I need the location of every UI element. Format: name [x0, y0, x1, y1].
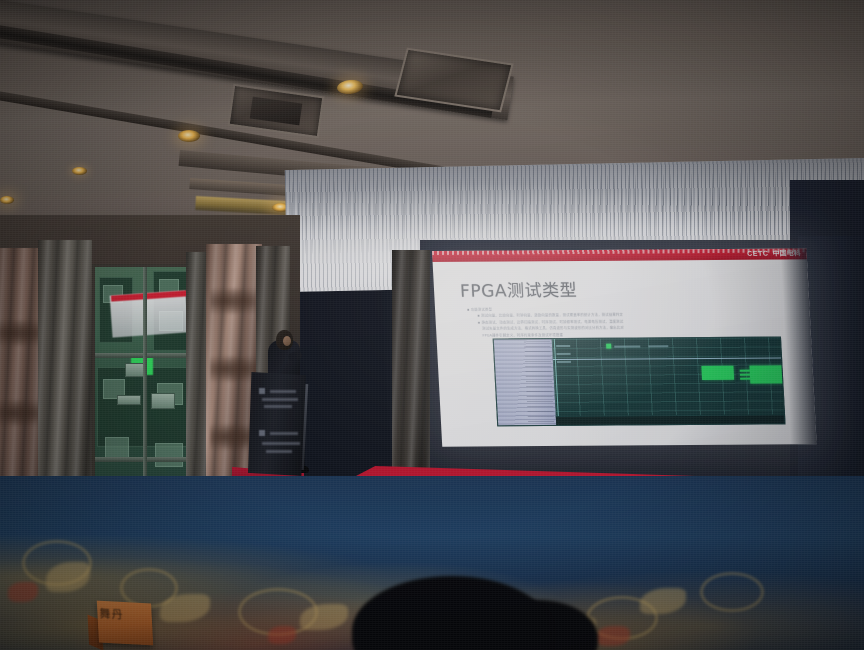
- waveform-signal-block: [740, 370, 750, 372]
- carpet-pattern: [268, 626, 296, 644]
- building-window: [105, 437, 129, 459]
- waveform-signal-block: [749, 365, 785, 384]
- ceiling-downlight: [0, 196, 14, 204]
- vent-inner: [250, 97, 302, 125]
- curtain-embroidery: [0, 398, 42, 428]
- ceiling-air-vent: [228, 84, 325, 138]
- floor-standing-sign: 舞丹: [87, 594, 164, 650]
- podium-text-line: [266, 450, 292, 453]
- curtain-embroidery: [0, 318, 42, 348]
- curtain-folds: [392, 250, 430, 490]
- curtain-embroidery: [210, 354, 258, 384]
- waveform-signal-panel: [494, 339, 557, 425]
- curtain-panel: [392, 250, 430, 490]
- waveform-row-marker: [614, 345, 640, 347]
- podium-logo: [259, 430, 265, 436]
- waveform-status-strip: [556, 414, 785, 425]
- carpet-pattern: [700, 572, 764, 612]
- waveform-row-marker: [648, 345, 668, 347]
- podium-text-line: [264, 405, 292, 408]
- slide-header-bar: CETC 中国电科: [432, 248, 807, 262]
- projection-screen: CETC 中国电科 FPGA测试类型 功能测试类型 测试向量、比较向量、时钟向量…: [432, 248, 817, 446]
- waveform-row-marker: [556, 345, 570, 347]
- carpet-pattern: [596, 626, 630, 646]
- carpet-pattern: [46, 562, 90, 592]
- podium-text-line: [270, 390, 296, 393]
- presenter-face: [283, 336, 291, 346]
- window: [92, 264, 194, 496]
- podium-text-line: [270, 432, 298, 435]
- carpet-pattern: [8, 582, 38, 602]
- cetc-logo-mark: CETC: [747, 251, 769, 258]
- waveform-viewer-image: [493, 336, 786, 426]
- sign-text: 舞丹: [99, 608, 124, 620]
- ceiling-downlight: [178, 130, 200, 142]
- waveform-signal-block: [740, 378, 750, 380]
- ceiling-downlight: [72, 167, 87, 175]
- building-window: [155, 443, 183, 467]
- air-conditioner-unit: [151, 393, 175, 409]
- waveform-row-marker: [557, 361, 571, 363]
- waveform-signal-block: [606, 344, 611, 349]
- slide-bullet-list: 功能测试类型 测试向量、比较向量、时钟向量、激励向量的数量，测试覆盖率的统计方法…: [467, 304, 793, 339]
- podium-text-line: [262, 398, 298, 401]
- waveform-canvas: [552, 337, 785, 424]
- air-conditioner-unit: [125, 363, 145, 377]
- slide-surface: CETC 中国电科 FPGA测试类型 功能测试类型 测试向量、比较向量、时钟向量…: [432, 248, 817, 446]
- waveform-row-marker: [557, 353, 571, 355]
- waveform-signal-block: [701, 366, 734, 380]
- podium-text-line: [262, 442, 300, 445]
- podium-logo: [259, 388, 265, 394]
- slide-title: FPGA测试类型: [459, 276, 577, 302]
- podium: [248, 372, 306, 476]
- presenter-arm: [287, 351, 302, 362]
- waveform-signal-block: [740, 374, 750, 376]
- waveform-signal-names: [524, 341, 555, 426]
- window-mullion: [143, 267, 147, 493]
- curtain-embroidery: [210, 286, 258, 316]
- conference-hall-photo: CETC 中国电科 FPGA测试类型 功能测试类型 测试向量、比较向量、时钟向量…: [0, 0, 864, 650]
- carpet-pattern: [300, 604, 348, 630]
- carpet-pattern: [640, 588, 686, 614]
- carpet-pattern: [160, 594, 210, 622]
- air-conditioner-unit: [117, 395, 141, 405]
